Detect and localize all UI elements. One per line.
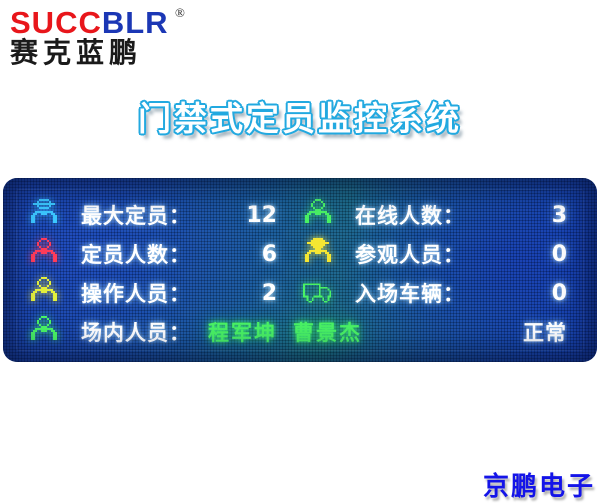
onsite-name: 曹景杰 xyxy=(293,317,362,347)
logo-wordmark-blr: BLR xyxy=(102,5,169,40)
onsite-name: 程军坤 xyxy=(208,317,277,347)
vehicles-entered-label: 入场车辆： xyxy=(355,274,515,312)
logo-chinese-name: 赛克蓝鹏 xyxy=(10,37,142,69)
led-row: 场内人员： 程军坤 曹景杰 正常 xyxy=(3,313,597,351)
led-row: 定员人数： 6 xyxy=(3,235,597,273)
person-hat-icon xyxy=(301,235,335,273)
led-rows-container: 最大定员： 12 xyxy=(3,178,597,362)
truck-icon xyxy=(301,274,335,312)
registered-personnel-value: 6 xyxy=(225,235,277,273)
vehicles-entered-value: 0 xyxy=(515,274,567,312)
led-row: 最大定员： 12 xyxy=(3,196,597,234)
person-icon xyxy=(27,313,61,351)
visitor-count-label: 参观人员： xyxy=(355,235,515,273)
status-badge: 正常 xyxy=(495,313,567,351)
page-title: 门禁式定员监控系统 xyxy=(0,92,600,140)
max-capacity-value: 12 xyxy=(225,196,277,234)
footer-brand: 京鹏电子 xyxy=(483,466,595,503)
person-icon xyxy=(27,235,61,273)
led-row: 操作人员： 2 xyxy=(3,274,597,312)
registered-personnel-label: 定员人数： xyxy=(81,235,231,273)
led-display-panel: 最大定员： 12 xyxy=(3,178,597,362)
operator-count-label: 操作人员： xyxy=(81,274,231,312)
company-logo: SUCCBLR ® 赛克蓝鹏 xyxy=(8,4,238,74)
visitor-count-value: 0 xyxy=(515,235,567,273)
online-count-label: 在线人数： xyxy=(355,196,515,234)
person-cap-icon xyxy=(27,196,61,234)
max-capacity-label: 最大定员： xyxy=(81,196,231,234)
person-icon xyxy=(301,196,335,234)
registered-trademark-icon: ® xyxy=(175,6,185,19)
logo-wordmark: SUCCBLR xyxy=(10,6,169,40)
person-icon xyxy=(27,274,61,312)
logo-wordmark-succ: SUCC xyxy=(10,5,102,40)
operator-count-value: 2 xyxy=(225,274,277,312)
online-count-value: 3 xyxy=(515,196,567,234)
onsite-personnel-names: 程军坤 曹景杰 xyxy=(208,313,478,351)
